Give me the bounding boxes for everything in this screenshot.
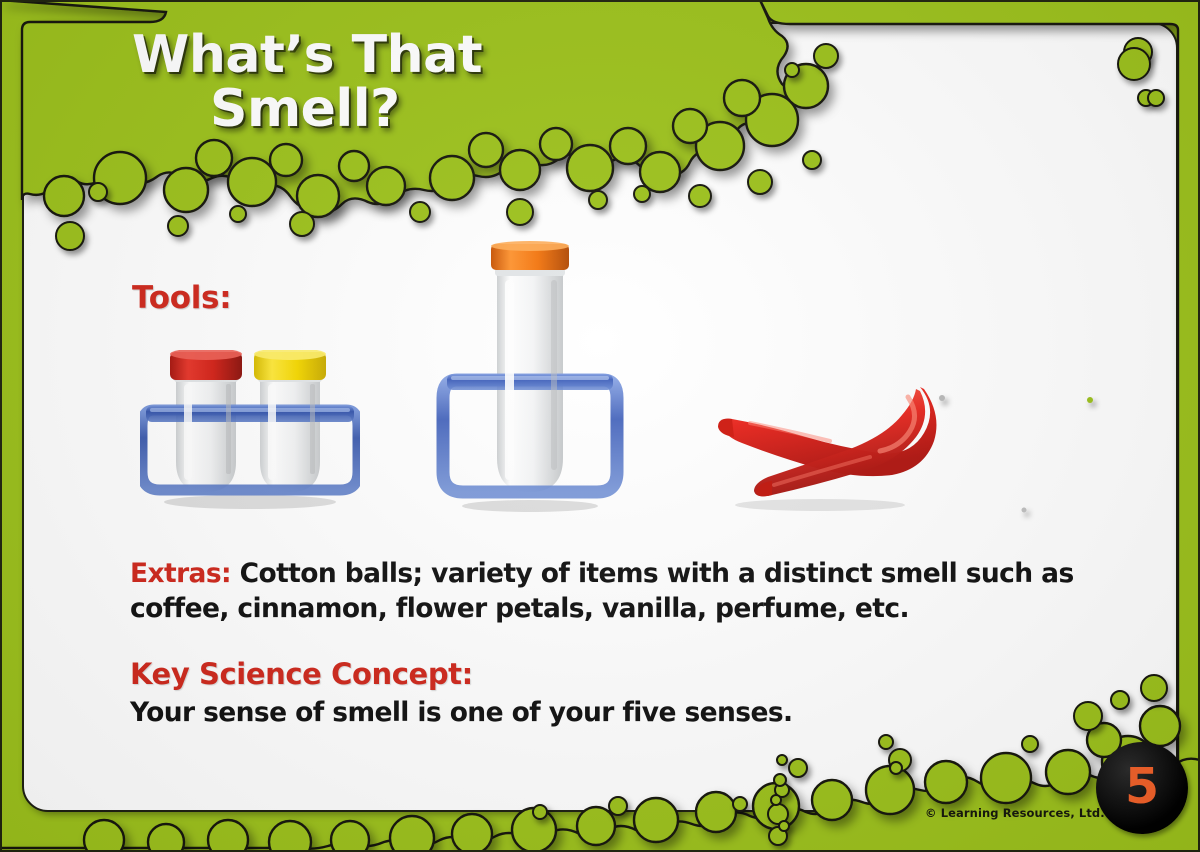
extras-text: Cotton balls; variety of items with a di…	[130, 558, 1074, 624]
activity-card: What’s That Smell? Tools:	[0, 0, 1200, 852]
key-science-concept-text: Your sense of smell is one of your five …	[130, 697, 792, 728]
plastic-tweezers-icon	[710, 375, 940, 515]
card-title-line1: What’s That	[132, 25, 482, 85]
extras-label: Extras:	[130, 558, 231, 589]
single-test-tube-in-rack-icon	[435, 240, 625, 515]
tools-label: Tools:	[132, 280, 231, 316]
card-title: What’s That Smell?	[132, 28, 692, 136]
page-number-badge: 5	[1096, 742, 1188, 834]
tools-illustration-row	[125, 235, 985, 525]
page-number-value: 5	[1125, 762, 1159, 811]
card-title-line2: Smell?	[132, 82, 692, 136]
copyright-notice: © Learning Resources, Ltd.	[925, 806, 1105, 820]
two-test-tubes-in-rack-icon	[140, 350, 360, 510]
extras-block: Extras: Cotton balls; variety of items w…	[130, 556, 1130, 626]
key-science-concept-label: Key Science Concept:	[130, 657, 473, 691]
